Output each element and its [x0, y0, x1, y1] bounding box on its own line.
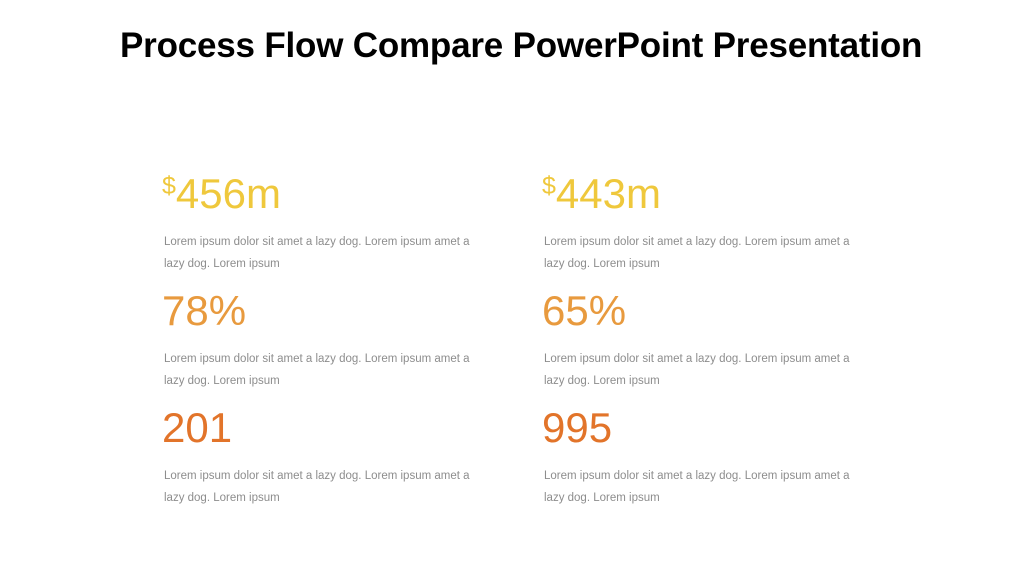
- stat-description: Lorem ipsum dolor sit amet a lazy dog. L…: [544, 465, 850, 509]
- currency-symbol: $: [162, 172, 176, 200]
- stat-description: Lorem ipsum dolor sit amet a lazy dog. L…: [164, 231, 470, 275]
- stat-description: Lorem ipsum dolor sit amet a lazy dog. L…: [544, 231, 850, 275]
- stat-block: 995 Lorem ipsum dolor sit amet a lazy do…: [542, 404, 922, 521]
- stat-block: 201 Lorem ipsum dolor sit amet a lazy do…: [162, 404, 542, 521]
- stat-description: Lorem ipsum dolor sit amet a lazy dog. L…: [544, 348, 850, 392]
- left-column: $456m Lorem ipsum dolor sit amet a lazy …: [162, 170, 542, 521]
- stats-content-area: $456m Lorem ipsum dolor sit amet a lazy …: [162, 170, 922, 521]
- currency-symbol: $: [542, 172, 556, 200]
- stat-number: 443m: [556, 170, 661, 217]
- right-column: $443m Lorem ipsum dolor sit amet a lazy …: [542, 170, 922, 521]
- stat-number: 995: [542, 404, 612, 451]
- stat-block: 65% Lorem ipsum dolor sit amet a lazy do…: [542, 287, 922, 404]
- stat-description: Lorem ipsum dolor sit amet a lazy dog. L…: [164, 348, 470, 392]
- stat-value: 201: [162, 404, 542, 452]
- stat-block: $456m Lorem ipsum dolor sit amet a lazy …: [162, 170, 542, 287]
- stat-value: 78%: [162, 287, 542, 335]
- stat-number: 65%: [542, 287, 626, 334]
- stat-block: $443m Lorem ipsum dolor sit amet a lazy …: [542, 170, 922, 287]
- stat-number: 201: [162, 404, 232, 451]
- stat-description: Lorem ipsum dolor sit amet a lazy dog. L…: [164, 465, 470, 509]
- stat-number: 456m: [176, 170, 281, 217]
- presentation-slide: Process Flow Compare PowerPoint Presenta…: [0, 0, 1024, 576]
- stat-value: $456m: [162, 170, 542, 218]
- stat-number: 78%: [162, 287, 246, 334]
- stat-value: 995: [542, 404, 922, 452]
- stat-value: $443m: [542, 170, 922, 218]
- page-title: Process Flow Compare PowerPoint Presenta…: [120, 24, 922, 68]
- stat-block: 78% Lorem ipsum dolor sit amet a lazy do…: [162, 287, 542, 404]
- stat-value: 65%: [542, 287, 922, 335]
